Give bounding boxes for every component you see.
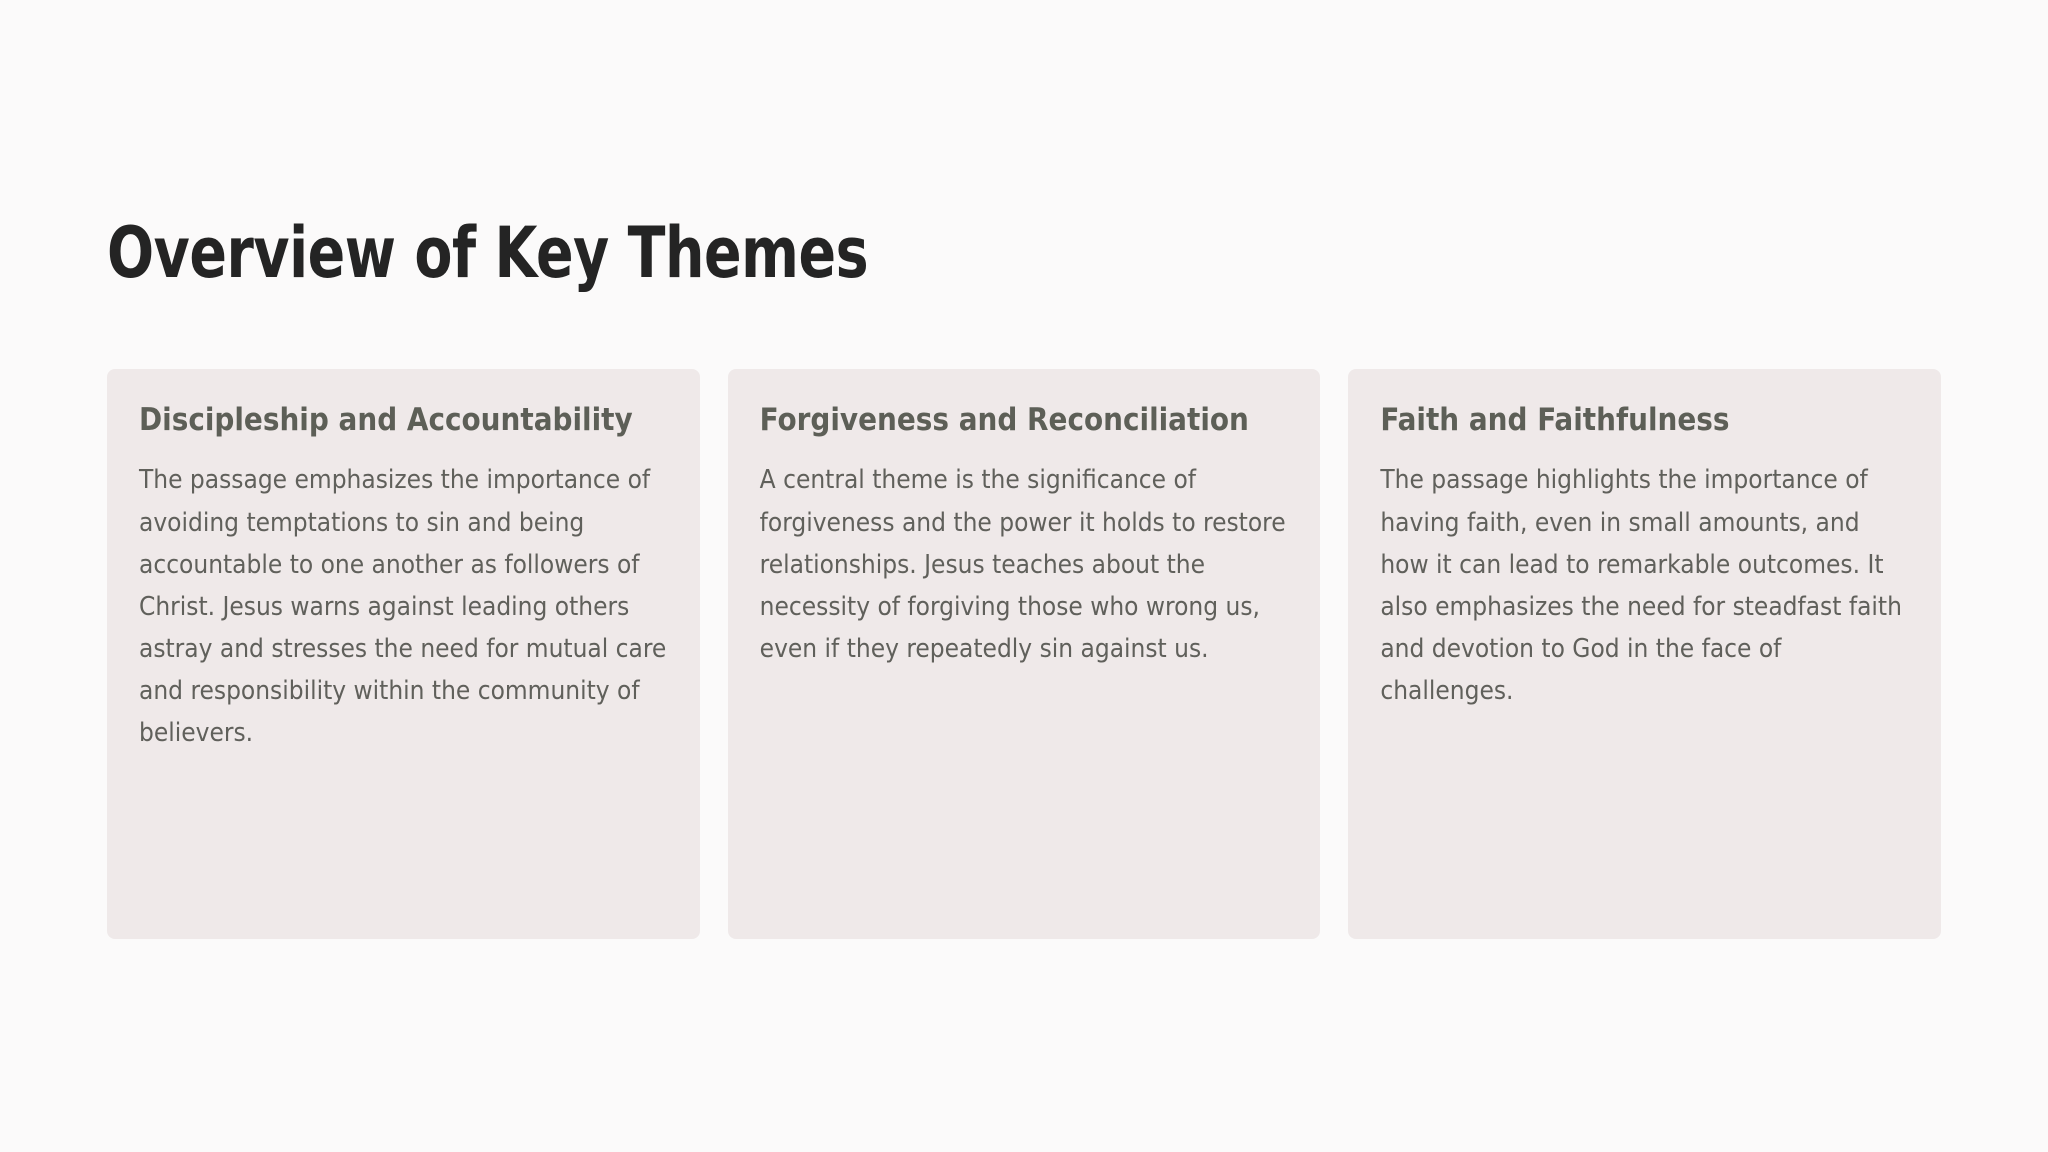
- theme-card-faith-and-faithfulness[interactable]: Faith and Faithfulness The passage highl…: [1348, 369, 1941, 939]
- slide-root: Overview of Key Themes Discipleship and …: [0, 0, 2048, 1152]
- card-body: A central theme is the significance of f…: [760, 459, 1289, 670]
- card-title: Faith and Faithfulness: [1380, 401, 1909, 439]
- card-body: The passage emphasizes the importance of…: [139, 459, 668, 754]
- card-body: The passage highlights the importance of…: [1380, 459, 1909, 712]
- page-title: Overview of Key Themes: [107, 218, 868, 288]
- theme-card-grid: Discipleship and Accountability The pass…: [107, 369, 1941, 939]
- theme-card-discipleship-and-accountability[interactable]: Discipleship and Accountability The pass…: [107, 369, 700, 939]
- card-title: Discipleship and Accountability: [139, 401, 668, 439]
- card-title: Forgiveness and Reconciliation: [760, 401, 1289, 439]
- theme-card-forgiveness-and-reconciliation[interactable]: Forgiveness and Reconciliation A central…: [728, 369, 1321, 939]
